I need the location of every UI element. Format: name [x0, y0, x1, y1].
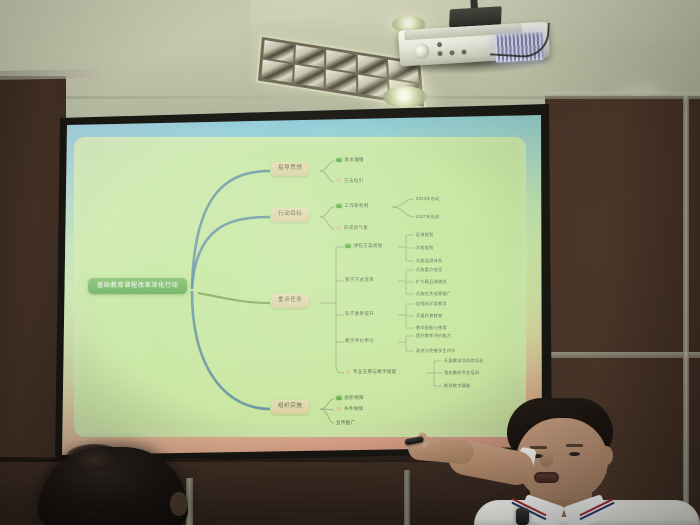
mindmap-sub-label: 强化教研专业培训: [444, 370, 479, 376]
shield-icon: [336, 226, 342, 231]
mindmap-sub-label: 学校规划: [416, 245, 434, 251]
mindmap-sub-label: 开展需求导向的培训: [444, 358, 484, 364]
mindmap-sub-label: 实施监测体系: [416, 258, 442, 264]
projector-knob: [437, 51, 442, 56]
mindmap-sub-label: 提升教师评价能力: [416, 333, 451, 339]
shield-icon: [336, 179, 342, 184]
leaf-label: 条件保障: [344, 406, 363, 412]
mindmap-sub-label: 推进数字赋能: [444, 383, 470, 389]
shield-icon: [345, 370, 351, 375]
leaf-label: 基本遵循: [345, 157, 364, 163]
wall-top-trim: [545, 92, 700, 99]
mindmap-sub-label: 加强科学类教学: [416, 301, 447, 307]
leaf-label: 工作新机制: [345, 203, 369, 209]
hand: [409, 435, 441, 462]
mindmap-sub-label: 2023年启动: [416, 196, 440, 202]
presenter-eyebrow: [566, 444, 583, 447]
foreground-attendee-hair: [66, 444, 124, 470]
projector-knob: [449, 50, 454, 55]
mindmap-leaf[interactable]: 方法指引: [336, 178, 363, 184]
ceiling-projector: [398, 15, 551, 70]
mindmap-branch-node[interactable]: 行动目标: [271, 208, 309, 222]
conference-room-photo: 基础教育课程改革深化行动 指导思想 基本遵循 方法指引 行动目标 工作新机制: [0, 0, 700, 525]
mindmap-leaf[interactable]: 基本遵循: [336, 157, 364, 163]
mindmap-leaf[interactable]: 形成新气象: [336, 225, 368, 231]
forearm: [407, 435, 475, 465]
mindmap-leaf[interactable]: 工作新机制: [336, 203, 369, 209]
shield-icon: [336, 407, 342, 412]
mindmap-branch-node[interactable]: 重点任务: [271, 294, 309, 308]
leaf-label: 组织保障: [345, 395, 364, 401]
green-pill-icon: [336, 396, 342, 401]
leaf-label: 形成新气象: [344, 225, 368, 231]
mindmap-sub-label: 实施重点攻坚: [416, 267, 442, 273]
mindmap-sub-label: 教学配备与使用: [416, 325, 447, 331]
mindmap-sub-label: 改进与完善学生评价: [416, 348, 456, 354]
leaf-label: 课程方案规划: [354, 243, 383, 249]
projector-lens: [413, 43, 430, 60]
microphone[interactable]: [516, 508, 529, 525]
mindmap-sub-label: 开展科普教育: [416, 313, 442, 319]
leaf-label: 教学方式变革: [345, 277, 374, 283]
presenter-arm: [392, 432, 528, 490]
mindmap-leaf[interactable]: 宣传推广: [336, 420, 355, 426]
projector-knob: [461, 49, 466, 54]
leaf-label: 宣传推广: [336, 420, 355, 426]
mindmap-leaf[interactable]: 专业支撑与数字赋能: [345, 369, 397, 375]
foreground-attendee-ear: [170, 492, 188, 516]
wall-trim-strip: [545, 352, 700, 358]
mindmap-sub-label: 区域规划: [416, 232, 434, 238]
mindmap-card: 基础教育课程改革深化行动 指导思想 基本遵循 方法指引 行动目标 工作新机制: [74, 137, 526, 437]
wall-top-trim: [0, 69, 100, 80]
presenter-ear: [600, 446, 613, 465]
mindmap-sub-label: 扩大精品课遴选: [416, 279, 447, 285]
mindmap-branch-node[interactable]: 指导思想: [271, 162, 309, 176]
mindmap-sub-label: 实施优秀成果推广: [416, 291, 451, 297]
leaf-label: 方法指引: [344, 178, 363, 184]
mindmap: 基础教育课程改革深化行动 指导思想 基本遵循 方法指引 行动目标 工作新机制: [74, 137, 526, 437]
leaf-label: 科学素养提升: [345, 311, 374, 317]
green-pill-icon: [336, 204, 342, 209]
mindmap-branch-node[interactable]: 组织实施: [271, 400, 309, 414]
mindmap-leaf[interactable]: 教学方式变革: [345, 277, 374, 283]
recessed-downlight: [383, 86, 427, 108]
mindmap-root-node[interactable]: 基础教育课程改革深化行动: [88, 278, 187, 294]
mindmap-leaf[interactable]: 条件保障: [336, 406, 363, 412]
mindmap-leaf[interactable]: 教学评价牵引: [345, 338, 374, 344]
green-pill-icon: [336, 158, 342, 163]
mindmap-sub-label: 2027年形成: [416, 214, 440, 220]
leaf-label: 教学评价牵引: [345, 338, 374, 344]
presenter-eye: [569, 452, 580, 456]
presenter-nose: [540, 452, 553, 467]
leaf-label: 专业支撑与数字赋能: [353, 369, 397, 375]
green-pill-icon: [345, 244, 351, 249]
projector-knob: [437, 42, 442, 47]
mindmap-leaf[interactable]: 组织保障: [336, 395, 364, 401]
presenter-mouth: [534, 472, 559, 483]
mindmap-leaf[interactable]: 课程方案规划: [345, 243, 383, 249]
mindmap-leaf[interactable]: 科学素养提升: [345, 311, 374, 317]
